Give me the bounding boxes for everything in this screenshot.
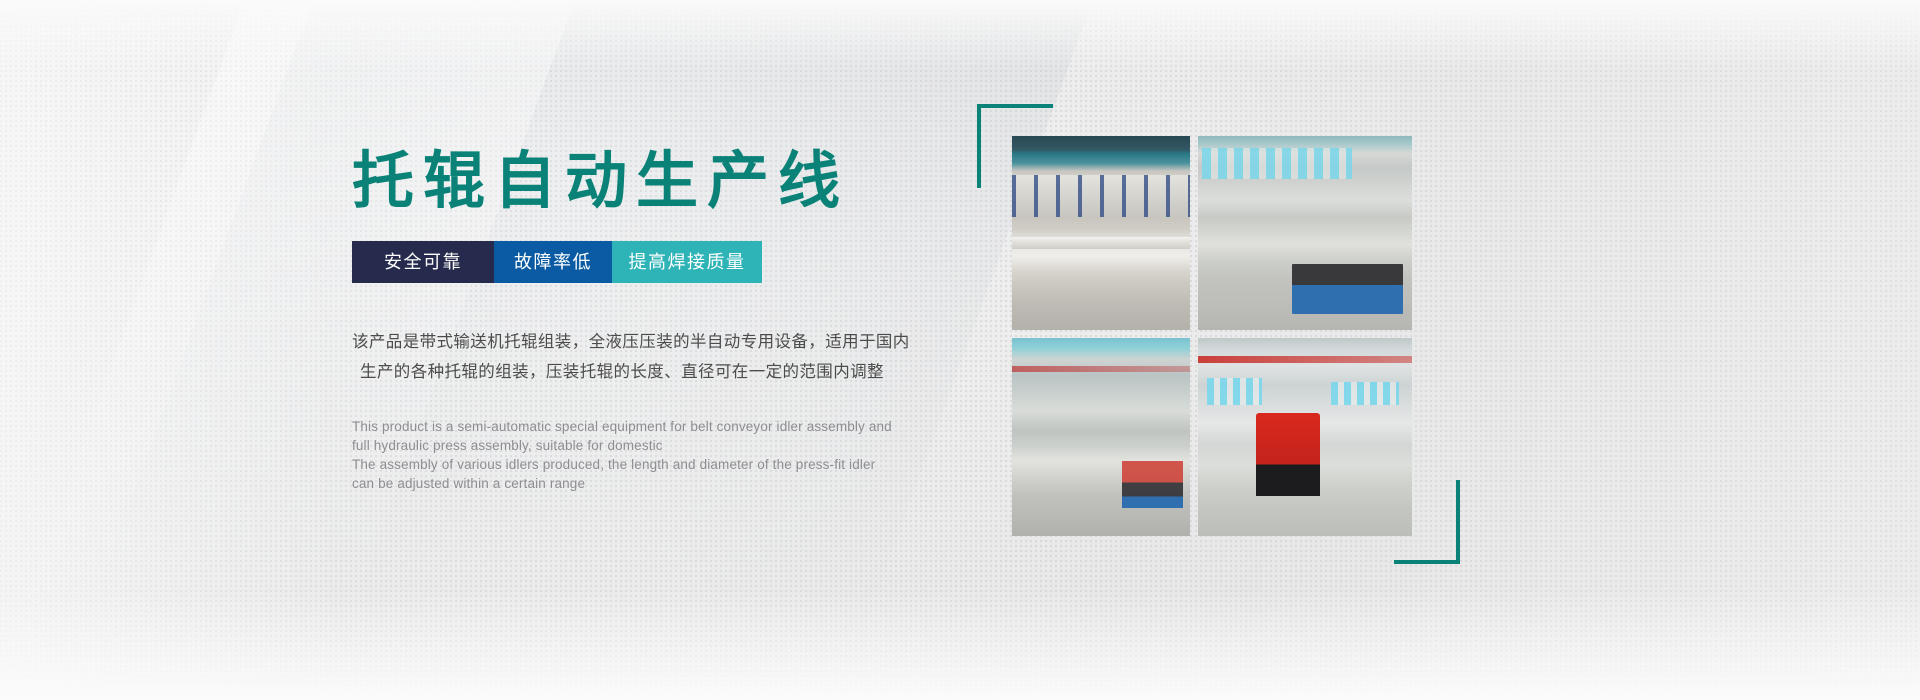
- description-english-line-3: The assembly of various idlers produced,…: [352, 455, 892, 474]
- banner-copy: 托辊自动生产线 安全可靠 故障率低 提高焊接质量 该产品是带式输送机托辊组装，全…: [352, 150, 952, 493]
- background-dot-pattern: [0, 0, 1920, 700]
- page-title: 托辊自动生产线: [352, 150, 952, 213]
- product-banner: 托辊自动生产线 安全可靠 故障率低 提高焊接质量 该产品是带式输送机托辊组装，全…: [0, 0, 1920, 700]
- window-glazing-decor: [1207, 378, 1263, 406]
- description-chinese-line-1: 该产品是带式输送机托辊组装，全液压压装的半自动专用设备，适用于国内: [352, 327, 912, 357]
- photo-red-press-machine[interactable]: [1198, 338, 1412, 536]
- description-english-line-2: full hydraulic press assembly, suitable …: [352, 436, 892, 455]
- feature-tag-low-failure-rate[interactable]: 故障率低: [494, 241, 612, 283]
- window-glazing-decor-2: [1331, 382, 1399, 406]
- feature-tag-improved-weld-quality[interactable]: 提高焊接质量: [612, 241, 762, 283]
- feature-tag-list: 安全可靠 故障率低 提高焊接质量: [352, 241, 762, 283]
- description-chinese: 该产品是带式输送机托辊组装，全液压压装的半自动专用设备，适用于国内 生产的各种托…: [352, 327, 912, 387]
- product-photo-gallery: [1012, 136, 1412, 536]
- feature-tag-safe-reliable[interactable]: 安全可靠: [352, 241, 494, 283]
- photo-workshop-rollers[interactable]: [1198, 136, 1412, 330]
- description-english-line-4: can be adjusted within a certain range: [352, 474, 892, 493]
- description-chinese-line-2: 生产的各种托辊的组装，压装托辊的长度、直径可在一定的范围内调整: [352, 357, 912, 387]
- photo-assembly-hall[interactable]: [1012, 338, 1190, 536]
- description-english: This product is a semi-automatic special…: [352, 417, 892, 493]
- photo-conveyor-line[interactable]: [1012, 136, 1190, 330]
- description-english-line-1: This product is a semi-automatic special…: [352, 417, 892, 436]
